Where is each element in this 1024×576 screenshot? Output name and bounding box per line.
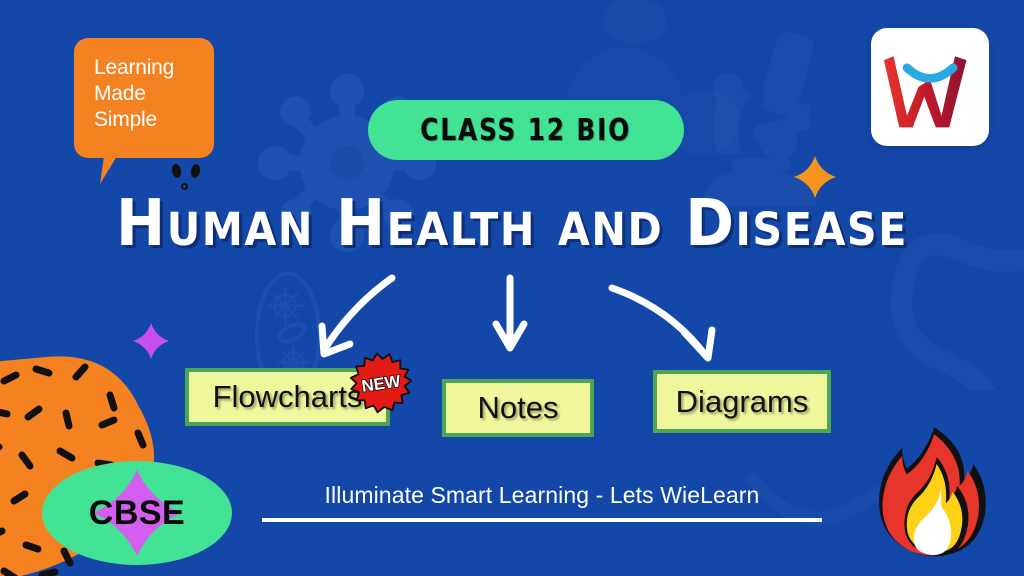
speech-bubble-tail — [100, 156, 124, 184]
arrow-left-shaft — [324, 278, 392, 350]
new-badge: NEW — [346, 348, 416, 418]
logo-w-icon — [882, 39, 978, 135]
footer-tagline-block: Illuminate Smart Learning - Lets WieLear… — [262, 482, 822, 522]
sparkle-icon — [133, 323, 169, 359]
cbse-badge-label: CBSE — [42, 458, 232, 568]
cbse-badge: CBSE — [42, 458, 232, 568]
face-eye-right-icon — [190, 163, 201, 178]
content-card-notes[interactable]: Notes — [442, 379, 594, 437]
content-card-label: Diagrams — [676, 384, 809, 420]
content-card-label: Notes — [478, 390, 559, 426]
brand-line-2: Made — [94, 81, 214, 107]
sparkle-icon — [794, 156, 836, 198]
face-eye-left-icon — [171, 163, 182, 178]
wielearn-logo[interactable] — [871, 28, 989, 146]
brand-line-3: Simple — [94, 107, 214, 133]
brand-speech-bubble: Learning Made Simple — [74, 38, 214, 158]
content-card-label: Flowcharts — [213, 379, 363, 415]
class-badge[interactable]: CLASS 12 BIO — [368, 100, 684, 160]
brand-tagline-text: Learning Made Simple — [74, 38, 214, 133]
arrow-right-head — [684, 330, 712, 358]
thumbnail-canvas: Learning Made Simple CLASS 12 BIO Human … — [0, 0, 1024, 576]
page-title: Human Health and Disease — [0, 192, 1024, 256]
footer-divider — [262, 518, 822, 522]
dot-watermark-icon — [596, 0, 674, 46]
content-card-diagrams[interactable]: Diagrams — [653, 370, 831, 433]
arrow-right-shaft — [612, 288, 706, 356]
brand-line-1: Learning — [94, 55, 214, 81]
class-badge-label: CLASS 12 BIO — [421, 113, 632, 148]
footer-tagline: Illuminate Smart Learning - Lets WieLear… — [262, 482, 822, 509]
flame-icon — [874, 425, 990, 557]
